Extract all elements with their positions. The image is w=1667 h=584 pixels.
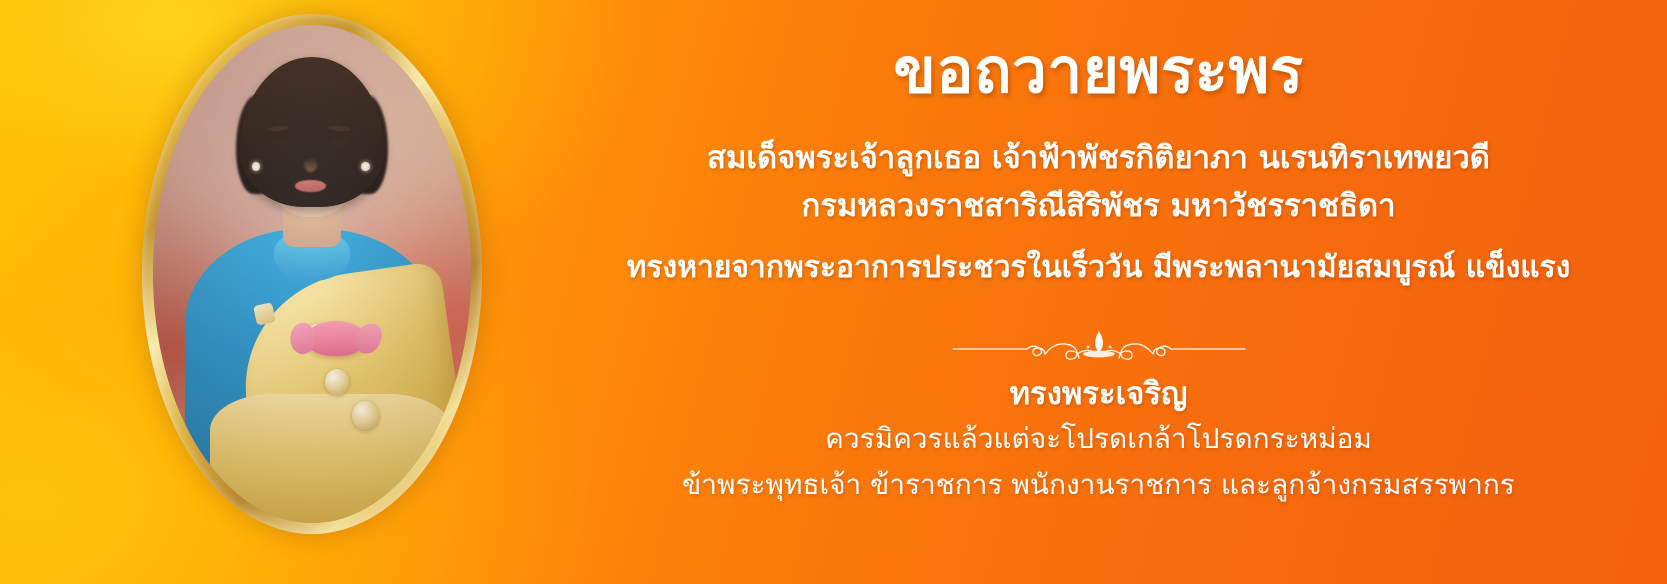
portrait-gold-frame: [142, 14, 482, 534]
royal-name-line-2: กรมหลวงราชสาริณีสิริพัชร มหาวัชรราชธิดา: [530, 189, 1667, 223]
portrait-image: [153, 25, 471, 523]
wish-message: ทรงหายจากพระอาการประชวรในเร็ววัน มีพระพล…: [530, 251, 1667, 284]
closing-line-1: ควรมิควรแล้วแต่จะโปรดเกล้าโปรดกระหม่อม: [530, 424, 1667, 455]
portrait-container: [142, 14, 482, 534]
portrait-vignette: [153, 25, 471, 523]
blessing-text: ทรงพระเจริญ: [530, 377, 1667, 411]
closing-line-2: ข้าพระพุทธเจ้า ข้าราชการ พนักงานราชการ แ…: [530, 470, 1667, 501]
royal-name-line-1: สมเด็จพระเจ้าลูกเธอ เจ้าฟ้าพัชรกิติยาภา …: [530, 141, 1667, 175]
filigree-divider-icon: [949, 327, 1249, 361]
page-title: ขอถวายพระพร: [530, 40, 1667, 102]
royal-blessing-banner: ขอถวายพระพร สมเด็จพระเจ้าลูกเธอ เจ้าฟ้าพ…: [0, 0, 1667, 584]
banner-text-column: ขอถวายพระพร สมเด็จพระเจ้าลูกเธอ เจ้าฟ้าพ…: [530, 0, 1667, 584]
